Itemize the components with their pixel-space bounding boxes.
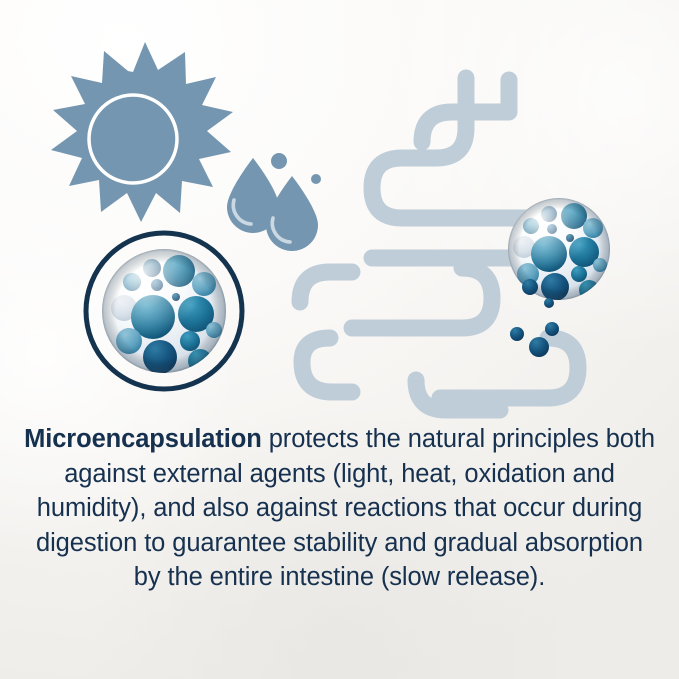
capsule-rim-shade <box>102 249 226 373</box>
microcapsule-icon <box>86 233 242 389</box>
infographic-canvas: Microencapsulation protects the natural … <box>0 0 679 679</box>
water-droplet-icon <box>227 153 321 251</box>
sun-icon <box>51 42 233 222</box>
droplet-speck-icon <box>271 153 287 169</box>
caption-bold-lead: Microencapsulation <box>24 425 262 453</box>
caption-text: Microencapsulation protects the natural … <box>22 422 657 595</box>
droplet-speck-icon <box>311 174 321 184</box>
